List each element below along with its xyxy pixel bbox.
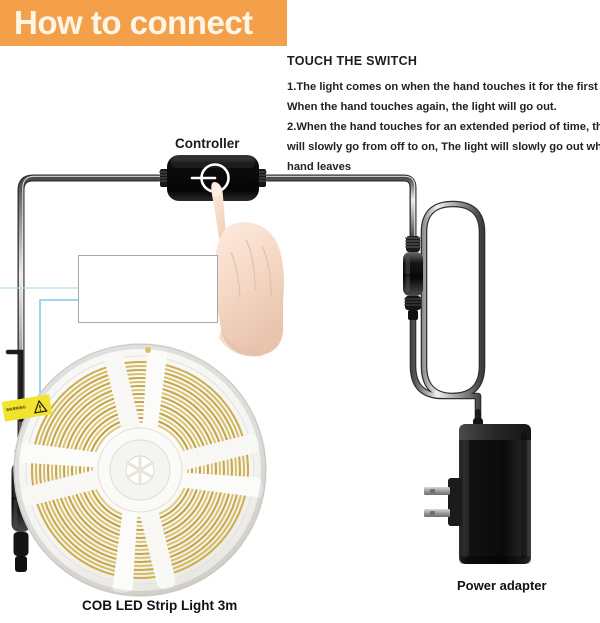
connector-detail-box [78, 255, 218, 323]
diagram-canvas: How to connect TOUCH THE SWITCH 1.The li… [0, 0, 600, 623]
hand-illustration [211, 182, 284, 357]
strip-label: COB LED Strip Light 3m [82, 598, 237, 613]
cable-controller-to-adapter [263, 176, 492, 420]
plug-prongs [424, 487, 450, 517]
warning-triangle-icon [32, 399, 48, 414]
inline-barrel-connector [403, 236, 423, 320]
controller-label: Controller [175, 136, 240, 151]
led-strip-reel [14, 344, 266, 596]
power-adapter [424, 412, 531, 564]
adapter-label: Power adapter [457, 578, 547, 593]
warning-tag-text: WARNING [6, 404, 27, 412]
